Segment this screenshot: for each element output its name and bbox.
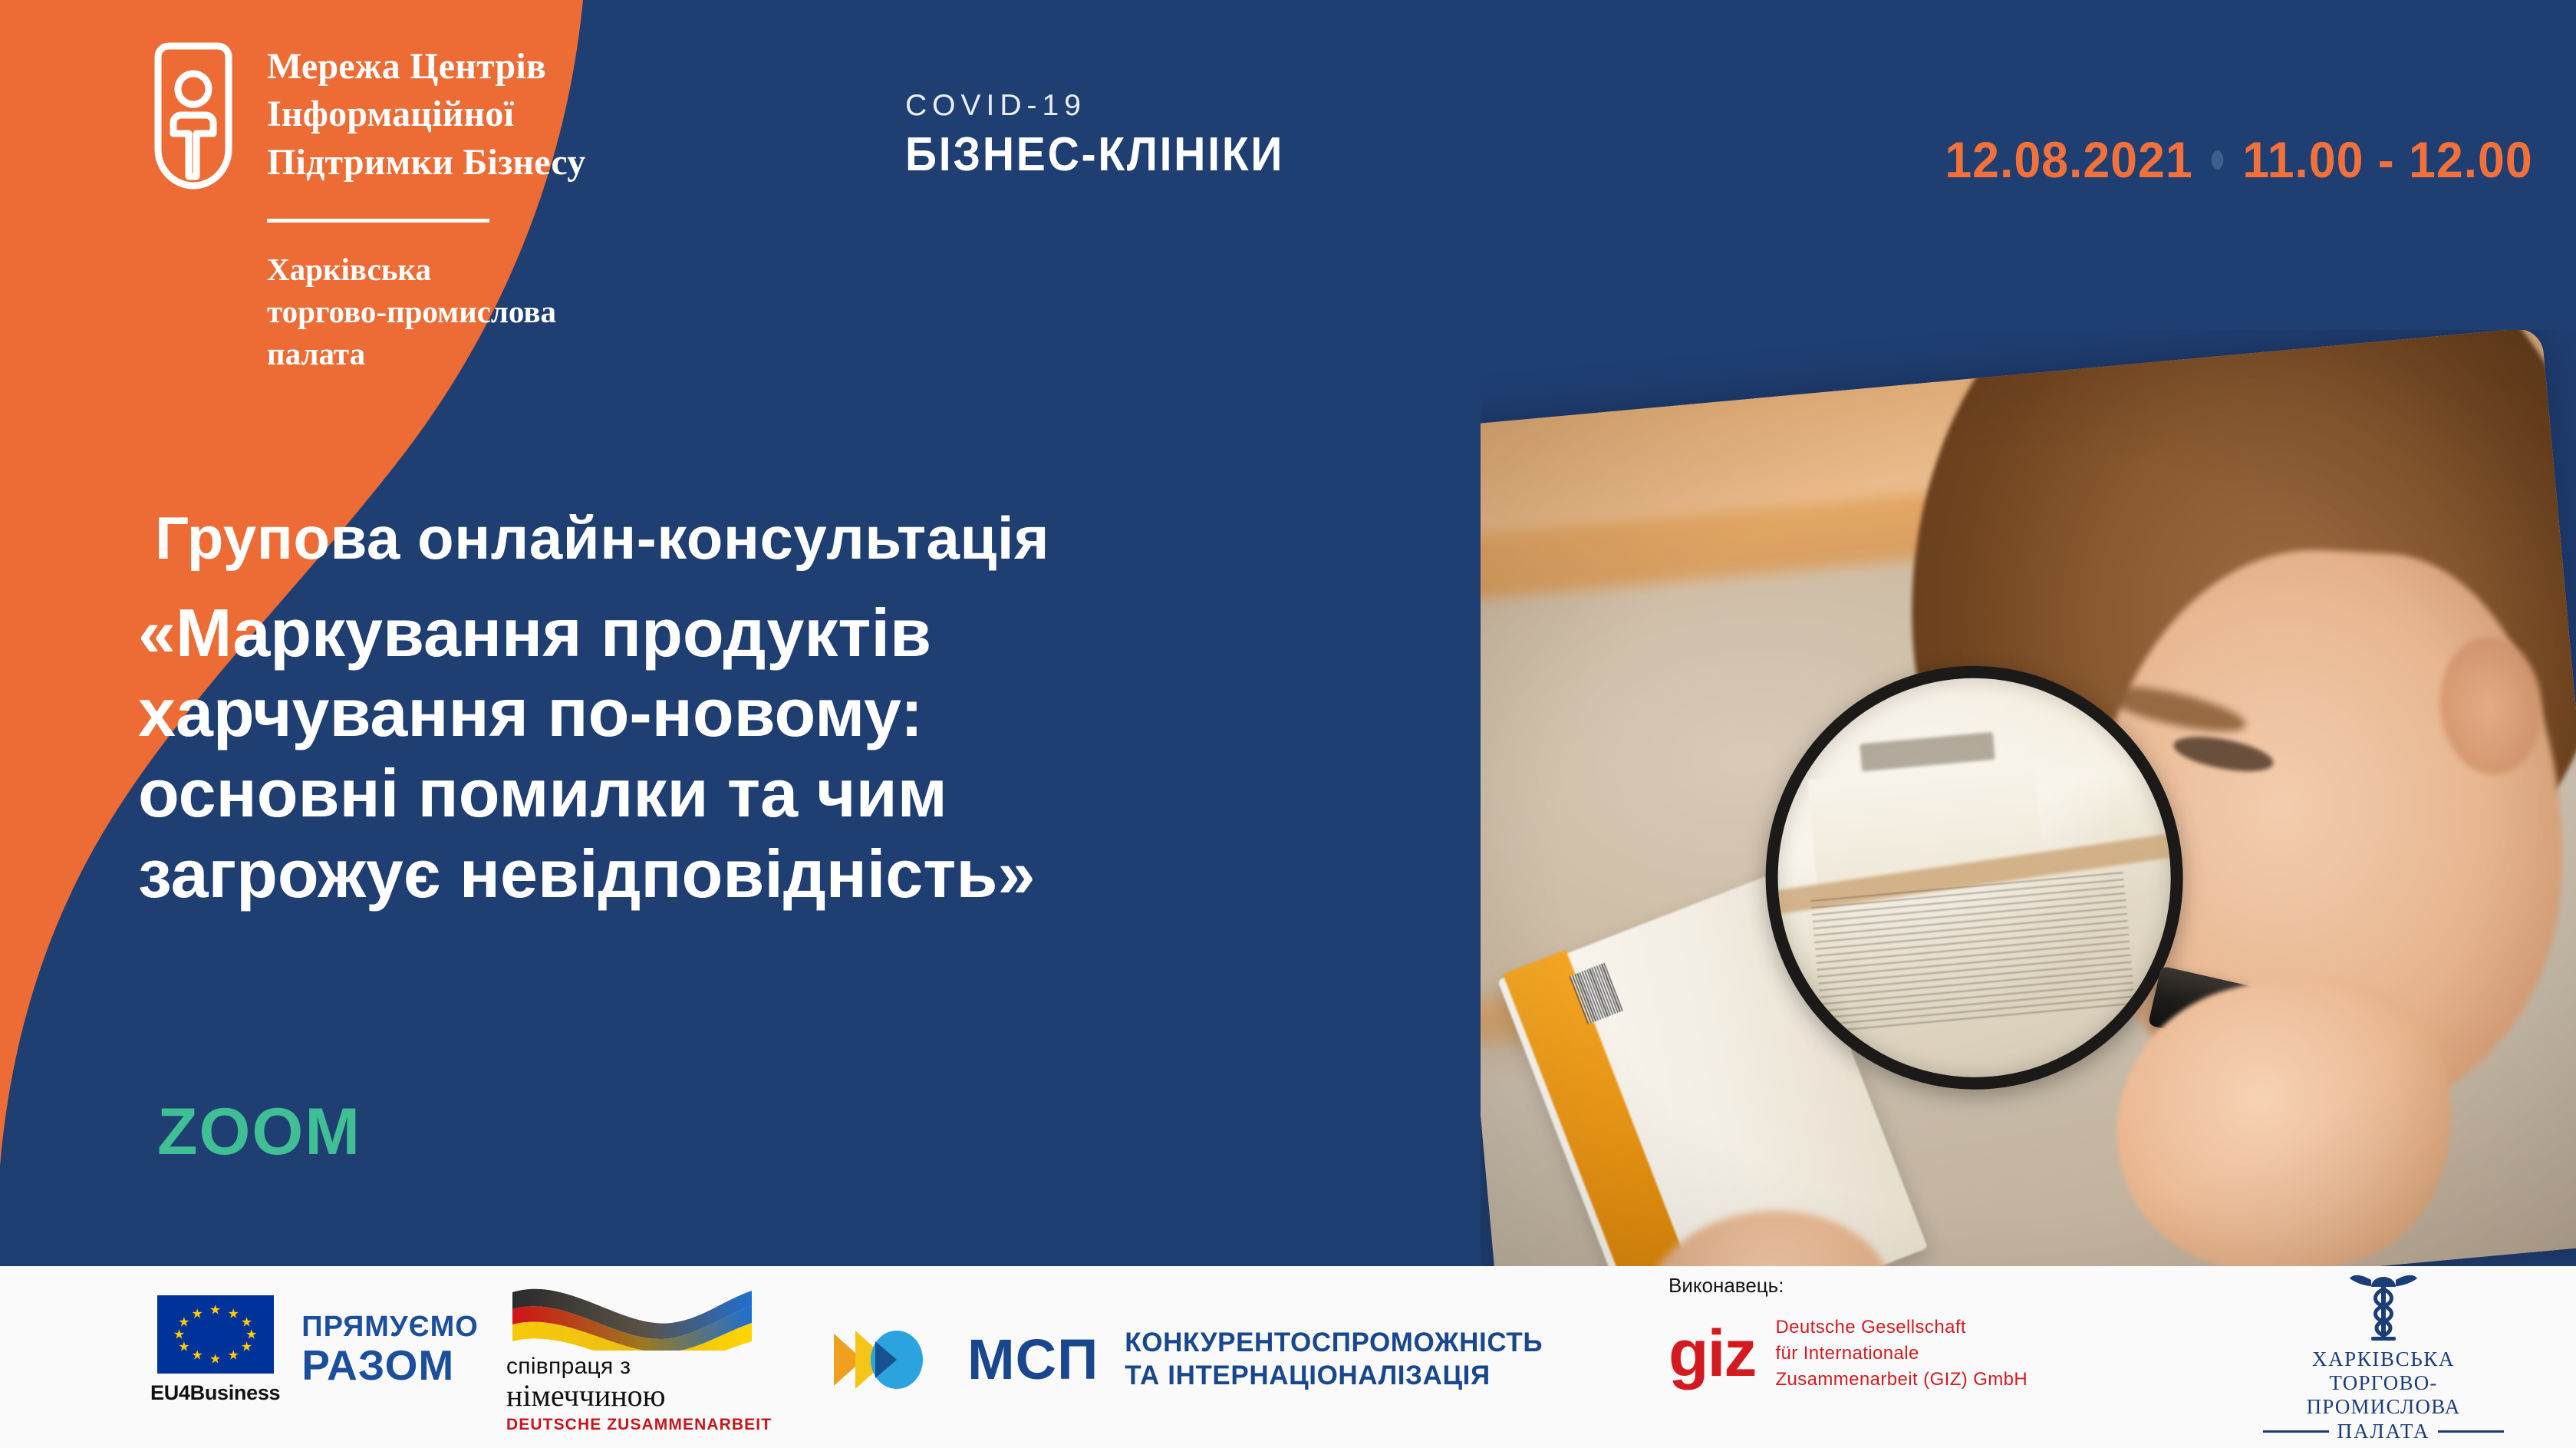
eu4business-logo: ★★★★★★★★★★★★ EU4Business ПРЯМУЄМО РАЗОМ [150, 1295, 479, 1405]
eu-slogan-line-1: ПРЯМУЄМО [301, 1312, 479, 1341]
series-title: БІЗНЕС-КЛІНІКИ [905, 131, 1284, 179]
eu-star-icon: ★ [173, 1328, 185, 1341]
chamber-rule-left [2263, 1430, 2329, 1433]
brand-name-line-3: Підтримки Бізнесу [267, 139, 585, 186]
covid-label: COVID-19 [905, 91, 1317, 120]
event-time: 11.00 - 12.00 [2243, 130, 2533, 189]
msp-line-2: ТА ІНТЕРНАЦІОНАЛІЗАЦІЯ [1125, 1360, 1543, 1393]
giz-logo-block: Виконавець: giz Deutsche Gesellschaft fü… [1668, 1274, 2028, 1393]
eu-star-icon: ★ [191, 1349, 203, 1362]
eu-slogan-line-2: РАЗОМ [301, 1344, 479, 1387]
msp-line-1: КОНКУРЕНТОСПРОМОЖНІСТЬ [1125, 1327, 1543, 1360]
eu-flag-icon: ★★★★★★★★★★★★ [157, 1295, 274, 1374]
event-date: 12.08.2021 [1945, 130, 2193, 189]
giz-wordmark: giz [1668, 1327, 1755, 1381]
headline-block: Групова онлайн-консультація «Маркування … [138, 506, 1573, 915]
title-line-3: основні помилки та чим [138, 754, 1573, 834]
eu-star-icon: ★ [241, 1340, 252, 1353]
german-coop-line-1: співпраця з [506, 1354, 782, 1380]
eu-star-icon: ★ [209, 1304, 221, 1317]
giz-desc-line-2: für Internationale [1775, 1341, 2028, 1367]
magnifier-lens-icon [1748, 648, 2202, 1107]
hero-photo [1481, 330, 2576, 1274]
implementer-label: Виконавець: [1668, 1274, 2028, 1298]
brand-sub-line-3: палата [267, 333, 585, 375]
germany-ukraine-ribbon-icon [506, 1280, 759, 1351]
partner-logos-footer: ★★★★★★★★★★★★ EU4Business ПРЯМУЄМО РАЗОМ [0, 1266, 2576, 1448]
brand-name-line-2: Інформаційної [267, 91, 585, 138]
german-cooperation-logo: співпраця з німеччиною DEUTSCHE ZUSAMMEN… [506, 1280, 782, 1434]
person-badge-icon [150, 40, 236, 193]
title-line-2: харчування по-новому: [138, 673, 1573, 754]
eu4business-label: EU4Business [150, 1381, 280, 1405]
brand-lockup: Мережа Центрів Інформаційної Підтримки Б… [150, 40, 585, 375]
eu-star-icon: ★ [191, 1307, 203, 1320]
chamber-line-1: ХАРКІВСЬКА [2257, 1347, 2510, 1371]
hero-photo-frame [1481, 330, 2576, 1274]
brand-divider [267, 219, 489, 223]
title-line-4: загрожує невідповідність» [138, 834, 1573, 915]
eu-star-icon: ★ [228, 1349, 239, 1362]
caduceus-icon [2348, 1271, 2419, 1344]
giz-desc-line-1: Deutsche Gesellschaft [1775, 1314, 2028, 1341]
msp-arrow-circle-icon [832, 1326, 947, 1394]
promo-banner: Мережа Центрів Інформаційної Підтримки Б… [0, 0, 2576, 1448]
msp-logo: МСП КОНКУРЕНТОСПРОМОЖНІСТЬ ТА ІНТЕРНАЦІО… [832, 1326, 1543, 1394]
chamber-line-3: ПАЛАТА [2337, 1420, 2429, 1443]
chamber-line-2: ТОРГОВО-ПРОМИСЛОВА [2257, 1371, 2510, 1419]
german-coop-line-3: DEUTSCHE ZUSAMMENARBEIT [506, 1416, 782, 1434]
brand-sub-line-2: торгово-промислова [267, 291, 585, 333]
eu-star-icon: ★ [228, 1307, 239, 1320]
title-line-1: «Маркування продуктів [138, 593, 1573, 674]
chamber-of-commerce-logo: ХАРКІВСЬКА ТОРГОВО-ПРОМИСЛОВА ПАЛАТА [2257, 1271, 2510, 1443]
event-schedule: 12.08.2021 11.00 - 12.00 [1945, 130, 2533, 189]
event-format-label: Групова онлайн-консультація [138, 506, 1573, 570]
zoom-platform-logo: ZOOM [157, 1099, 361, 1165]
event-series-kicker: COVID-19 БІЗНЕС-КЛІНІКИ [905, 91, 1317, 179]
giz-desc-line-3: Zusammenarbeit (GIZ) GmbH [1775, 1367, 2028, 1393]
eu-star-icon: ★ [209, 1352, 221, 1365]
eu-star-icon: ★ [178, 1340, 189, 1353]
msp-abbreviation: МСП [967, 1331, 1099, 1388]
brand-sub-line-1: Харківська [267, 249, 585, 291]
chamber-rule-right [2438, 1430, 2504, 1433]
german-coop-line-2: німеччиною [506, 1380, 782, 1412]
eu-star-icon: ★ [178, 1316, 189, 1329]
page-title: «Маркування продуктів харчування по-ново… [138, 593, 1573, 915]
dot-separator-icon [2212, 150, 2224, 170]
brand-name-line-1: Мережа Центрів [267, 43, 585, 91]
